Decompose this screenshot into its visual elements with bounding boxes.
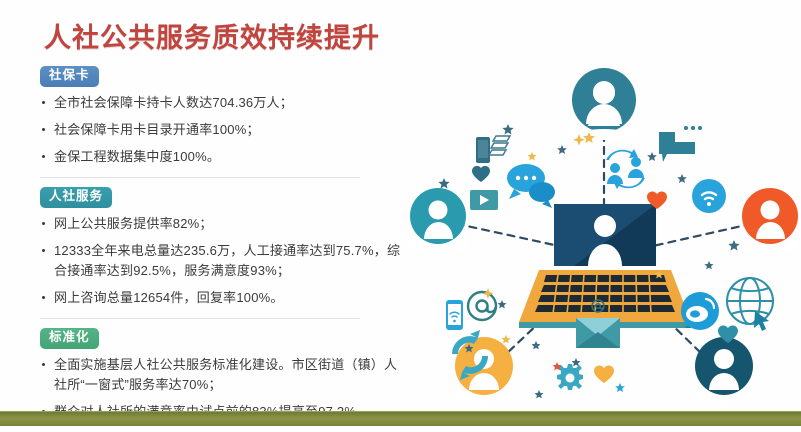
mobile-wifi-icon — [446, 300, 463, 330]
wifi-icon — [692, 179, 726, 213]
weibo-icon — [681, 292, 719, 330]
section-biaozhunhua: 标准化 全面实施基层人社公共服务标准化建设。市区街道（镇）人社所“一窗式”服务率… — [40, 328, 410, 422]
books-icon — [489, 136, 510, 155]
section-shebaoka: 社保卡 全市社会保障卡持卡人数达704.36万人； 社会保障卡用卡目录开通率10… — [40, 66, 410, 167]
page-title: 人社公共服务质效持续提升 — [44, 16, 380, 55]
email-envelope-icon — [576, 318, 620, 348]
heart-amber-icon — [594, 366, 614, 383]
list-item: 全面实施基层人社公共服务标准化建设。市区街道（镇）人社所“一窗式”服务率达70%… — [40, 355, 410, 395]
gear-icon — [557, 364, 583, 390]
avatar-right — [742, 188, 798, 252]
content-column: 社保卡 全市社会保障卡持卡人数达704.36万人； 社会保障卡用卡目录开通率10… — [40, 66, 410, 432]
illustration-network-graphic — [408, 56, 801, 406]
bottom-accent-bar — [0, 411, 801, 426]
list-item: 12333全年来电总量达235.6万，人工接通率达到75.7%，综合接通率达到9… — [40, 241, 410, 281]
smartphone-icon — [476, 137, 490, 163]
list-item: 网上咨询总量12654件，回复率100%。 — [40, 288, 410, 308]
section-badge-biaozhunhua: 标准化 — [40, 328, 99, 349]
bullet-list-renshefuwu: 网上公共服务提供率82%； 12333全年来电总量达235.6万，人工接通率达到… — [40, 214, 410, 309]
list-item: 全市社会保障卡持卡人数达704.36万人； — [40, 93, 410, 113]
section-badge-shebaoka: 社保卡 — [40, 66, 99, 87]
users-sync-icon — [606, 149, 645, 189]
section-divider-2 — [40, 318, 360, 319]
section-renshefuwu: 人社服务 网上公共服务提供率82%； 12333全年来电总量达235.6万，人工… — [40, 187, 410, 308]
speech-bubble-icon — [659, 126, 702, 162]
chat-bubbles-icon — [507, 164, 555, 208]
heart-icon — [472, 166, 490, 182]
avatar-left — [410, 188, 466, 252]
at-sign-icon — [468, 292, 496, 320]
section-divider-1 — [40, 177, 360, 178]
list-item: 社会保障卡用卡目录开通率100%； — [40, 120, 410, 140]
laptop-icon — [519, 204, 691, 328]
section-badge-renshefuwu: 人社服务 — [40, 187, 112, 208]
avatar-bottom-right — [695, 337, 753, 404]
globe-cursor-icon — [727, 278, 773, 324]
bullet-list-shebaoka: 全市社会保障卡持卡人数达704.36万人； 社会保障卡用卡目录开通率100%； … — [40, 93, 410, 167]
list-item: 金保工程数据集中度100%。 — [40, 147, 410, 167]
video-play-icon — [470, 190, 498, 210]
list-item: 网上公共服务提供率82%； — [40, 214, 410, 234]
slide-root: 人社公共服务质效持续提升 社保卡 全市社会保障卡持卡人数达704.36万人； 社… — [0, 0, 801, 426]
